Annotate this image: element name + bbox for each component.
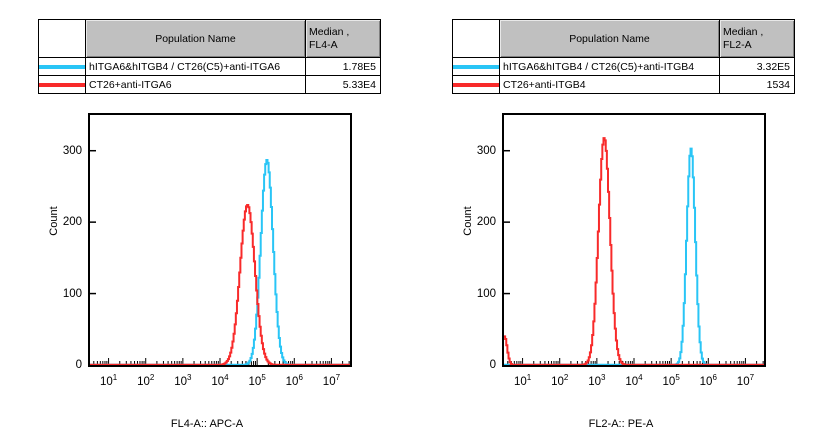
legend-row: hITGA6&hITGB4 / CT26(C5)+anti-ITGA6 1.78… [39, 58, 381, 76]
legend-header-median-line2: FL4-A [309, 39, 380, 52]
x-tick-label: 104 [211, 376, 228, 388]
y-tick-label: 200 [450, 217, 496, 227]
legend-row: hITGA6&hITGB4 / CT26(C5)+anti-ITGB4 3.32… [453, 58, 795, 76]
legend-swatch-red [39, 76, 86, 94]
x-tick-label: 101 [100, 376, 117, 388]
legend-header-median-line1: Median , [309, 26, 380, 39]
histogram-plot-fl4a [88, 113, 352, 367]
legend-median-value: 5.33E4 [306, 76, 381, 94]
y-tick-label: 100 [36, 289, 82, 299]
y-axis-ticks: 0100200300 [450, 113, 496, 367]
histogram-svg [504, 115, 764, 365]
y-tick-label: 300 [450, 146, 496, 156]
legend-table-right: Population Name Median , FL2-A hITGA6&hI… [452, 19, 795, 94]
legend-swatch-red [453, 76, 500, 94]
histogram-curve [504, 138, 764, 365]
legend-population-label: CT26+anti-ITGA6 [86, 76, 306, 94]
histogram-curve [90, 205, 350, 365]
x-tick-label: 103 [588, 376, 605, 388]
histogram-plot-fl2a [502, 113, 766, 367]
legend-population-label: hITGA6&hITGB4 / CT26(C5)+anti-ITGA6 [86, 58, 306, 76]
x-tick-label: 105 [249, 376, 266, 388]
color-swatch-icon [39, 83, 85, 87]
y-tick-label: 0 [36, 360, 82, 370]
x-axis-ticks: 101102103104105106107 [88, 368, 352, 394]
legend-swatch-cyan [39, 58, 86, 76]
legend-header-row: Population Name Median , FL2-A [453, 20, 795, 58]
y-tick-label: 300 [36, 146, 82, 156]
legend-median-value: 1.78E5 [306, 58, 381, 76]
legend-row: CT26+anti-ITGB4 1534 [453, 76, 795, 94]
legend-swatch-cyan [453, 58, 500, 76]
x-tick-label: 102 [137, 376, 154, 388]
y-axis-ticks: 0100200300 [36, 113, 82, 367]
legend-header-swatch [453, 20, 500, 58]
y-tick-label: 0 [450, 360, 496, 370]
legend-header-median-line1: Median , [723, 26, 794, 39]
x-tick-label: 106 [286, 376, 303, 388]
x-axis-title: FL2-A:: PE-A [414, 418, 828, 430]
legend-header-median: Median , FL2-A [720, 20, 795, 58]
legend-header-swatch [39, 20, 86, 58]
color-swatch-icon [453, 65, 499, 69]
y-tick-label: 200 [36, 217, 82, 227]
legend-table-left: Population Name Median , FL4-A hITGA6&hI… [38, 19, 381, 94]
panel-fl2a: Population Name Median , FL2-A hITGA6&hI… [414, 0, 828, 445]
legend-population-label: CT26+anti-ITGB4 [500, 76, 720, 94]
x-axis-ticks: 101102103104105106107 [502, 368, 766, 394]
x-tick-label: 107 [737, 376, 754, 388]
y-tick-label: 100 [450, 289, 496, 299]
legend-population-label: hITGA6&hITGB4 / CT26(C5)+anti-ITGB4 [500, 58, 720, 76]
x-tick-label: 104 [625, 376, 642, 388]
legend-header-median: Median , FL4-A [306, 20, 381, 58]
legend-median-value: 3.32E5 [720, 58, 795, 76]
x-axis-title: FL4-A:: APC-A [0, 418, 414, 430]
legend-row: CT26+anti-ITGA6 5.33E4 [39, 76, 381, 94]
legend-median-value: 1534 [720, 76, 795, 94]
panel-fl4a: Population Name Median , FL4-A hITGA6&hI… [0, 0, 414, 445]
legend-header-row: Population Name Median , FL4-A [39, 20, 381, 58]
x-tick-label: 102 [551, 376, 568, 388]
legend-header-population-name: Population Name [500, 20, 720, 58]
x-tick-label: 103 [174, 376, 191, 388]
histogram-curve [504, 149, 764, 365]
x-tick-label: 101 [514, 376, 531, 388]
color-swatch-icon [39, 65, 85, 69]
x-tick-label: 105 [663, 376, 680, 388]
color-swatch-icon [453, 83, 499, 87]
x-tick-label: 106 [700, 376, 717, 388]
x-tick-label: 107 [323, 376, 340, 388]
legend-header-median-line2: FL2-A [723, 39, 794, 52]
histogram-curve [90, 160, 350, 365]
histogram-svg [90, 115, 350, 365]
legend-header-population-name: Population Name [86, 20, 306, 58]
